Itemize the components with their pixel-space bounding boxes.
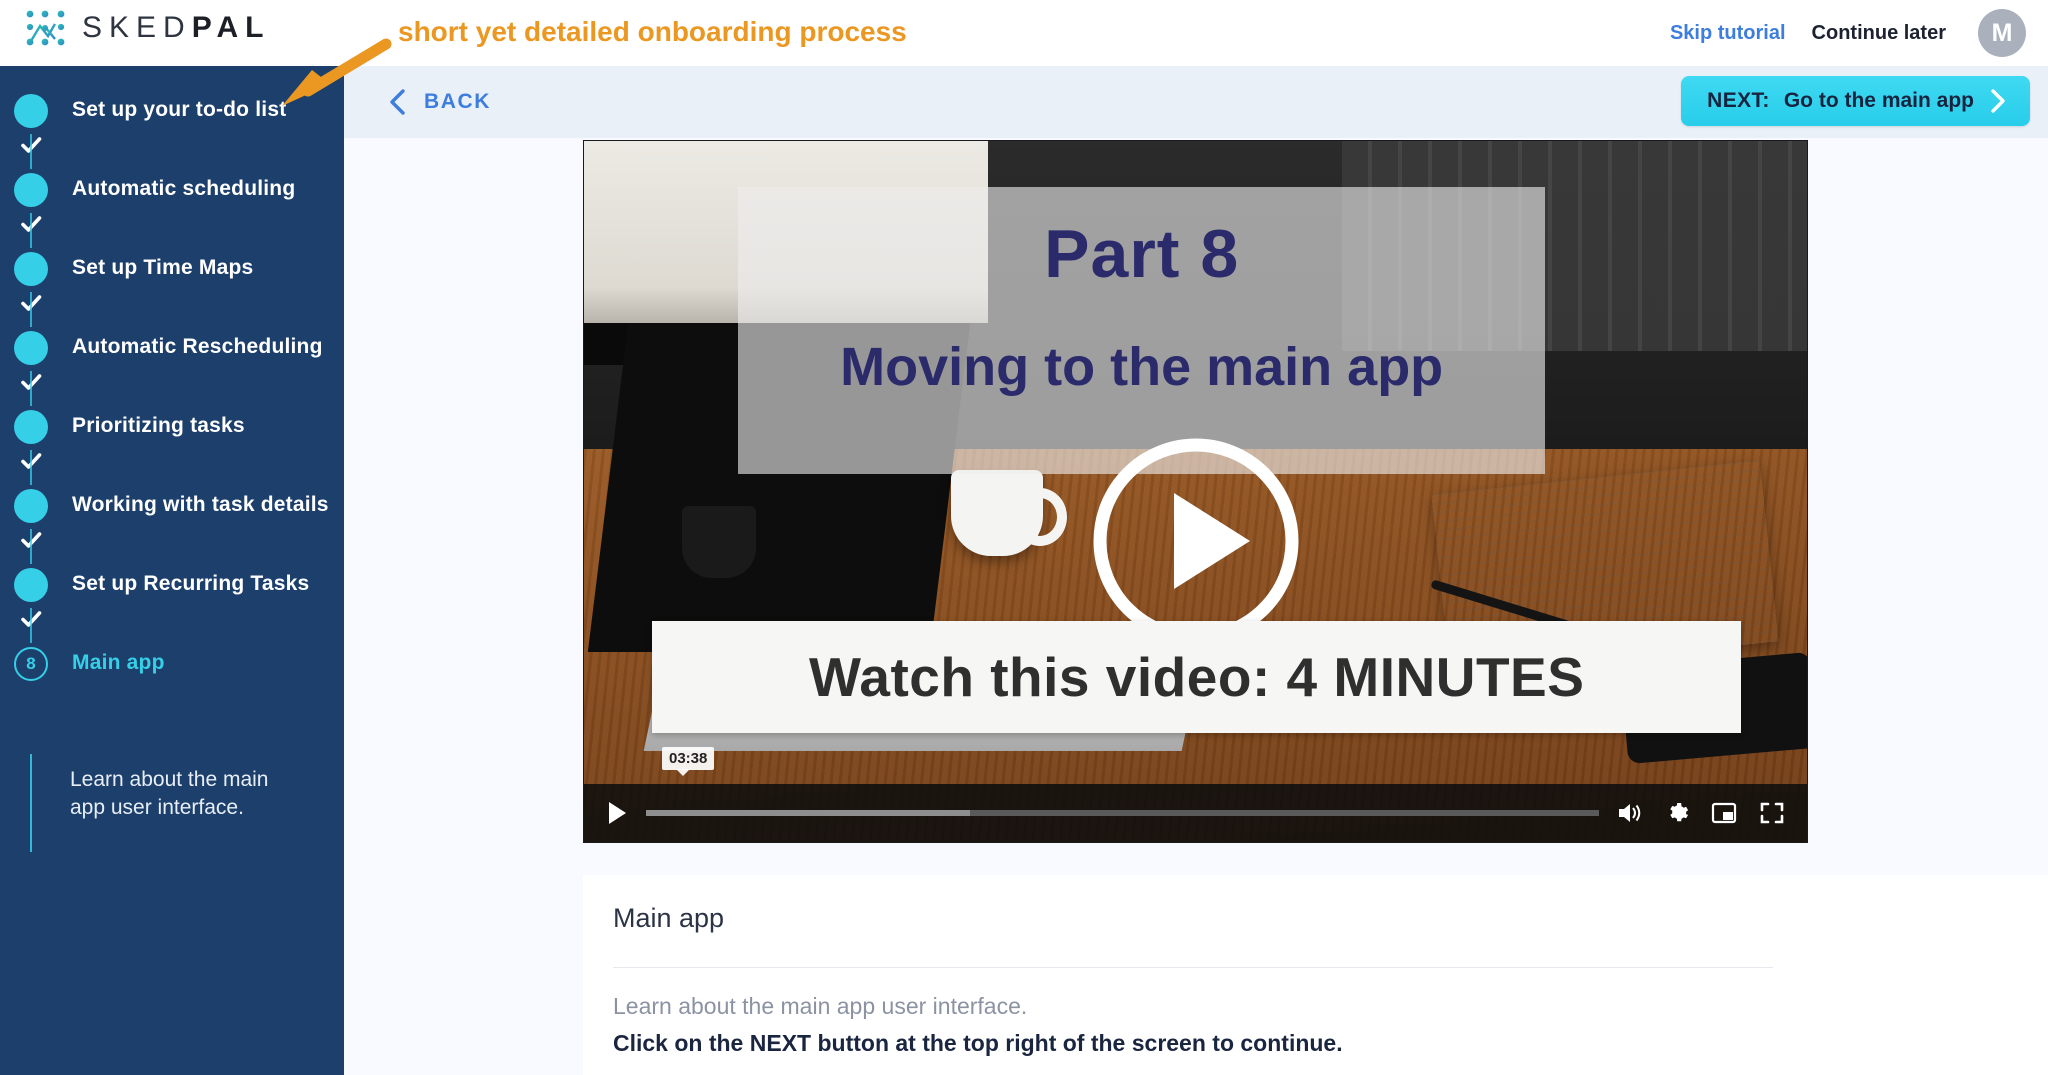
sidebar-active-description: Learn about the main app user interface. [70, 766, 300, 822]
check-circle-icon [14, 173, 48, 207]
next-button-prefix: NEXT: [1707, 89, 1770, 113]
top-bar: SKEDPAL Skip tutorial Continue later M [0, 0, 2048, 66]
lesson-detail-card: Main app Learn about the main app user i… [583, 875, 2048, 1075]
brand-name-bold: PAL [192, 11, 271, 44]
sidebar-item-working-with-task-details[interactable]: Working with task details [0, 485, 344, 564]
step-status-badge [14, 568, 48, 602]
brand-name: SKEDPAL [82, 11, 270, 45]
next-button[interactable]: NEXT: Go to the main app [1681, 76, 2030, 126]
continue-later-button[interactable]: Continue later [1812, 22, 1946, 45]
check-circle-icon [14, 489, 48, 523]
step-connector [30, 213, 32, 248]
step-connector [30, 529, 32, 564]
step-connector [30, 754, 32, 852]
check-circle-icon [14, 94, 48, 128]
lesson-description: Learn about the main app user interface. [613, 993, 1027, 1020]
step-status-badge: 8 [14, 647, 48, 681]
step-status-badge [14, 331, 48, 365]
sidebar-item-label: Set up your to-do list [72, 98, 286, 122]
navigation-bar: BACK NEXT: Go to the main app [344, 66, 2048, 138]
sidebar-item-label: Automatic Rescheduling [72, 335, 323, 359]
video-controls-bar: 03:38 [584, 784, 1807, 842]
sidebar-item-prioritizing-tasks[interactable]: Prioritizing tasks [0, 406, 344, 485]
volume-icon[interactable] [1617, 801, 1643, 825]
network-nodes-icon [24, 6, 68, 50]
sidebar-item-label: Working with task details [72, 493, 329, 517]
step-status-badge [14, 489, 48, 523]
sidebar-item-label: Prioritizing tasks [72, 414, 245, 438]
video-subtitle: Moving to the main app [738, 336, 1545, 398]
sidebar-item-label: Automatic scheduling [72, 177, 295, 201]
avatar[interactable]: M [1978, 9, 2026, 57]
onboarding-sidebar: Set up your to-do list Automatic schedul… [0, 66, 344, 1075]
number-circle-icon: 8 [14, 647, 48, 681]
step-status-badge [14, 173, 48, 207]
step-status-badge [14, 94, 48, 128]
sidebar-item-label: Main app [72, 651, 165, 675]
video-duration-banner: Watch this video: 4 MINUTES [652, 621, 1740, 733]
lesson-call-to-action: Click on the NEXT button at the top righ… [613, 1030, 1343, 1057]
back-button-label: BACK [424, 90, 491, 114]
sidebar-item-set-up-time-maps[interactable]: Set up Time Maps [0, 248, 344, 327]
check-circle-icon [14, 568, 48, 602]
video-title-overlay: Part 8 Moving to the main app [738, 187, 1545, 474]
check-circle-icon [14, 331, 48, 365]
brand-logo[interactable]: SKEDPAL [24, 6, 270, 50]
skip-tutorial-link[interactable]: Skip tutorial [1670, 22, 1786, 45]
step-connector [30, 450, 32, 485]
fullscreen-icon[interactable] [1759, 801, 1785, 825]
video-progress-bar[interactable]: 03:38 [646, 810, 1599, 816]
step-connector [30, 134, 32, 169]
play-circle-icon[interactable] [1090, 435, 1302, 647]
miniplayer-icon[interactable] [1711, 801, 1737, 825]
step-status-badge [14, 410, 48, 444]
video-time-tooltip: 03:38 [662, 747, 714, 770]
progress-buffered [646, 810, 970, 816]
sidebar-item-set-up-your-to-do-list[interactable]: Set up your to-do list [0, 90, 344, 169]
video-duration-text: Watch this video: 4 MINUTES [809, 645, 1584, 709]
step-status-badge [14, 252, 48, 286]
next-button-label: Go to the main app [1784, 89, 1974, 113]
step-connector [30, 371, 32, 406]
sidebar-item-automatic-rescheduling[interactable]: Automatic Rescheduling [0, 327, 344, 406]
sidebar-item-main-app[interactable]: 8 Main app [0, 643, 344, 722]
check-circle-icon [14, 252, 48, 286]
step-connector [30, 292, 32, 327]
tutorial-video-player[interactable]: Part 8 Moving to the main app Watch this… [583, 140, 1808, 843]
check-circle-icon [14, 410, 48, 444]
brand-name-light: SKED [82, 11, 192, 44]
chevron-right-icon [1988, 88, 2008, 114]
sidebar-item-label: Set up Time Maps [72, 256, 253, 280]
divider [613, 967, 1773, 968]
video-part-title: Part 8 [738, 215, 1545, 293]
play-icon[interactable] [606, 800, 628, 826]
chevron-left-icon [386, 87, 408, 117]
sidebar-item-set-up-recurring-tasks[interactable]: Set up Recurring Tasks [0, 564, 344, 643]
gear-icon[interactable] [1665, 801, 1689, 825]
back-button[interactable]: BACK [386, 87, 491, 117]
page-title: Main app [613, 903, 724, 934]
sidebar-item-label: Set up Recurring Tasks [72, 572, 309, 596]
sidebar-item-automatic-scheduling[interactable]: Automatic scheduling [0, 169, 344, 248]
step-connector [30, 608, 32, 643]
content-area: Part 8 Moving to the main app Watch this… [344, 138, 2048, 1075]
top-bar-actions: Skip tutorial Continue later M [1670, 0, 2026, 66]
